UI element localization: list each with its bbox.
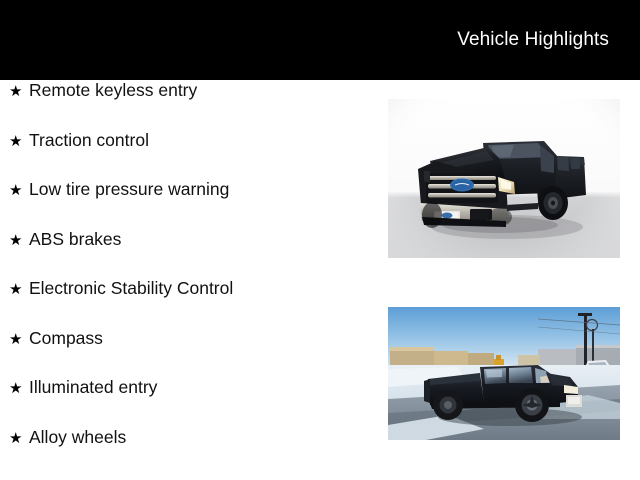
list-item-label: Alloy wheels [29,427,380,447]
star-bullet-icon: ★ [9,280,29,300]
star-bullet-icon: ★ [9,181,29,201]
vehicle-photo-studio-front [388,99,620,258]
list-item: ★ Illuminated entry [0,377,380,427]
star-bullet-icon: ★ [9,330,29,350]
vehicle-photo-outdoor-side-image [388,307,620,440]
vehicle-photo-studio-front-image [388,99,620,258]
list-item: ★ Remote keyless entry [0,80,380,130]
star-bullet-icon: ★ [9,82,29,102]
header-bar: Vehicle Highlights [0,0,640,80]
list-item: ★ Low tire pressure warning [0,179,380,229]
list-item-label: Low tire pressure warning [29,179,380,199]
star-bullet-icon: ★ [9,429,29,449]
list-item-label: Remote keyless entry [29,80,380,100]
list-item: ★ Compass [0,328,380,378]
star-bullet-icon: ★ [9,231,29,251]
list-item: ★ Traction control [0,130,380,180]
list-item: ★ Electronic Stability Control [0,278,380,328]
list-item-label: Traction control [29,130,380,150]
list-item: ★ ABS brakes [0,229,380,279]
vehicle-highlights-list: ★ Remote keyless entry ★ Traction contro… [0,80,380,476]
list-item-label: Electronic Stability Control [29,278,380,298]
list-item-label: Compass [29,328,380,348]
star-bullet-icon: ★ [9,379,29,399]
page-title: Vehicle Highlights [457,29,609,51]
star-bullet-icon: ★ [9,132,29,152]
list-item-label: ABS brakes [29,229,380,249]
list-item: ★ Alloy wheels [0,427,380,477]
list-item-label: Illuminated entry [29,377,380,397]
vehicle-photo-outdoor-side [388,307,620,440]
